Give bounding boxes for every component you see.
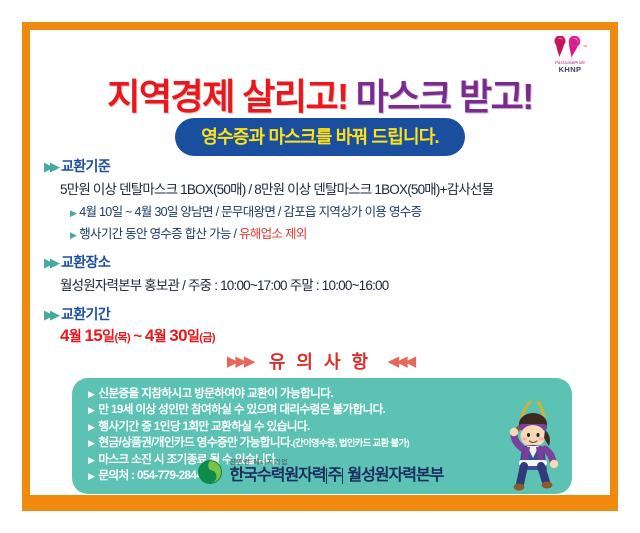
body-content: ▶▶ 교환기준 5만원 이상 덴탈마스크 1BOX(50매) / 8만원 이상 … — [44, 156, 596, 348]
notice-item: ▶신분증을 지참하시고 방문하여야 교환이 가능합니다. — [88, 386, 560, 402]
notice-item: ▶행사기간 중 1인당 1회만 교환하실 수 있습니다. — [88, 419, 560, 435]
end-dow: (금) — [199, 332, 215, 344]
poster-frame: ™ Passion&Pride KHNP 지역경제 살리고!마스크 받고! 영수… — [22, 22, 618, 511]
poster-inner: ™ Passion&Pride KHNP 지역경제 살리고!마스크 받고! 영수… — [30, 30, 610, 495]
section-exchange-period: ▶▶ 교환기간 4월 15일(목) ~ 4월 30일(금) — [44, 304, 596, 346]
headline: 지역경제 살리고!마스크 받고! — [30, 68, 610, 120]
triangle-icon: ▶ — [88, 389, 94, 399]
arrows-left-icon: ◀◀◀ — [388, 352, 414, 370]
start-day-unit: 일 — [102, 328, 114, 344]
section-header: ▶▶ 교환기간 — [44, 304, 596, 324]
notice-item: ▶현금/상품권/개인카드 영수증만 가능합니다.(간이영수증, 법인카드 교환 … — [88, 435, 560, 451]
notice-item-text: 현금/상품권/개인카드 영수증만 가능합니다. — [98, 436, 292, 449]
section-exchange-location: ▶▶ 교환장소 월성원자력본부 홍보관 / 주중 : 10:00~17:00 주… — [44, 252, 596, 294]
bullet-text: 행사기간 동안 영수증 합산 가능 / — [79, 227, 239, 241]
start-month: 4 — [60, 326, 69, 345]
start-day: 15 — [84, 326, 102, 345]
double-triangle-icon: ▶▶ — [44, 256, 56, 269]
notice-header: ▶▶▶ 유 의 사 항 ◀◀◀ — [30, 348, 610, 374]
exchange-period-dates: 4월 15일(목) ~ 4월 30일(금) — [44, 326, 596, 346]
khnp-circle-logo-icon — [197, 459, 223, 485]
notice-item-note: (간이영수증, 법인카드 교환 불가) — [293, 438, 409, 448]
section-header: ▶▶ 교환기준 — [44, 156, 596, 176]
notice-item-text: 신분증을 지참하시고 방문하여야 교환이 가능합니다. — [98, 387, 333, 400]
start-month-unit: 월 — [69, 328, 81, 344]
section-header: ▶▶ 교환장소 — [44, 252, 596, 272]
footer-company: 한국수력원자력주월성원자력본부 — [230, 468, 444, 484]
notice-item-text: 행사기간 중 1인당 1회만 교환하실 수 있습니다. — [98, 420, 309, 433]
double-triangle-icon: ▶▶ — [44, 160, 56, 173]
end-day: 30 — [169, 326, 187, 345]
headline-purple: 마스크 받고! — [356, 76, 533, 117]
bullet-text: 4월 10일 ~ 4월 30일 양남면 / 문무대왕면 / 감포읍 지역상가 이… — [79, 205, 421, 219]
section-title: 교환기간 — [61, 304, 110, 324]
headline-red: 지역경제 살리고! — [107, 76, 347, 117]
end-month: 4 — [145, 326, 154, 345]
date-tilde: ~ — [133, 328, 141, 345]
notice-title: 유 의 사 항 — [269, 348, 371, 374]
triangle-icon: ▶ — [88, 422, 94, 432]
subtitle-wrap: 영수증과 마스크를 바꿔 드립니다. — [30, 118, 610, 156]
footer-company-pre: 한국수력원자력 — [230, 467, 326, 484]
end-day-unit: 일 — [187, 328, 199, 344]
section-title: 교환기준 — [61, 156, 110, 176]
section-bullet: ▶행사기간 동안 영수증 합산 가능 / 유해업소 제외 — [44, 223, 596, 242]
end-month-unit: 월 — [154, 328, 166, 344]
triangle-icon: ▶ — [88, 405, 94, 415]
footer-branch: 월성원자력본부 — [347, 467, 443, 484]
khnp-heart-icon: ™ — [553, 36, 587, 60]
section-exchange-criteria: ▶▶ 교환기준 5만원 이상 덴탈마스크 1BOX(50매) / 8만원 이상 … — [44, 156, 596, 242]
arrows-right-icon: ▶▶▶ — [227, 352, 253, 370]
triangle-icon: ▶ — [70, 208, 76, 218]
double-triangle-icon: ▶▶ — [44, 308, 56, 321]
triangle-icon: ▶ — [70, 230, 76, 240]
notice-item: ▶만 19세 이상 성인만 참여하실 수 있으며 대리수령은 불가합니다. — [88, 402, 560, 418]
section-title: 교환장소 — [61, 252, 110, 272]
start-dow: (목) — [114, 332, 130, 344]
bullet-warning-text: 유해업소 제외 — [239, 227, 307, 241]
svg-text:™: ™ — [583, 44, 587, 49]
footer-logo: 친환경 에너지기업 한국수력원자력주월성원자력본부 — [30, 459, 610, 485]
section-main-text: 월성원자력본부 홍보관 / 주중 : 10:00~17:00 주말 : 10:0… — [44, 274, 596, 294]
notice-item-text: 만 19세 이상 성인만 참여하실 수 있으며 대리수령은 불가합니다. — [98, 403, 385, 416]
section-bullet: ▶4월 10일 ~ 4월 30일 양남면 / 문무대왕면 / 감포읍 지역상가 … — [44, 201, 596, 220]
footer-company-co: 주 — [326, 468, 344, 484]
triangle-icon: ▶ — [88, 438, 94, 448]
subtitle-banner: 영수증과 마스크를 바꿔 드립니다. — [175, 118, 464, 156]
section-main-text: 5만원 이상 덴탈마스크 1BOX(50매) / 8만원 이상 덴탈마스크 1B… — [44, 178, 596, 198]
footer-text: 친환경 에너지기업 한국수력원자력주월성원자력본부 — [230, 460, 444, 484]
